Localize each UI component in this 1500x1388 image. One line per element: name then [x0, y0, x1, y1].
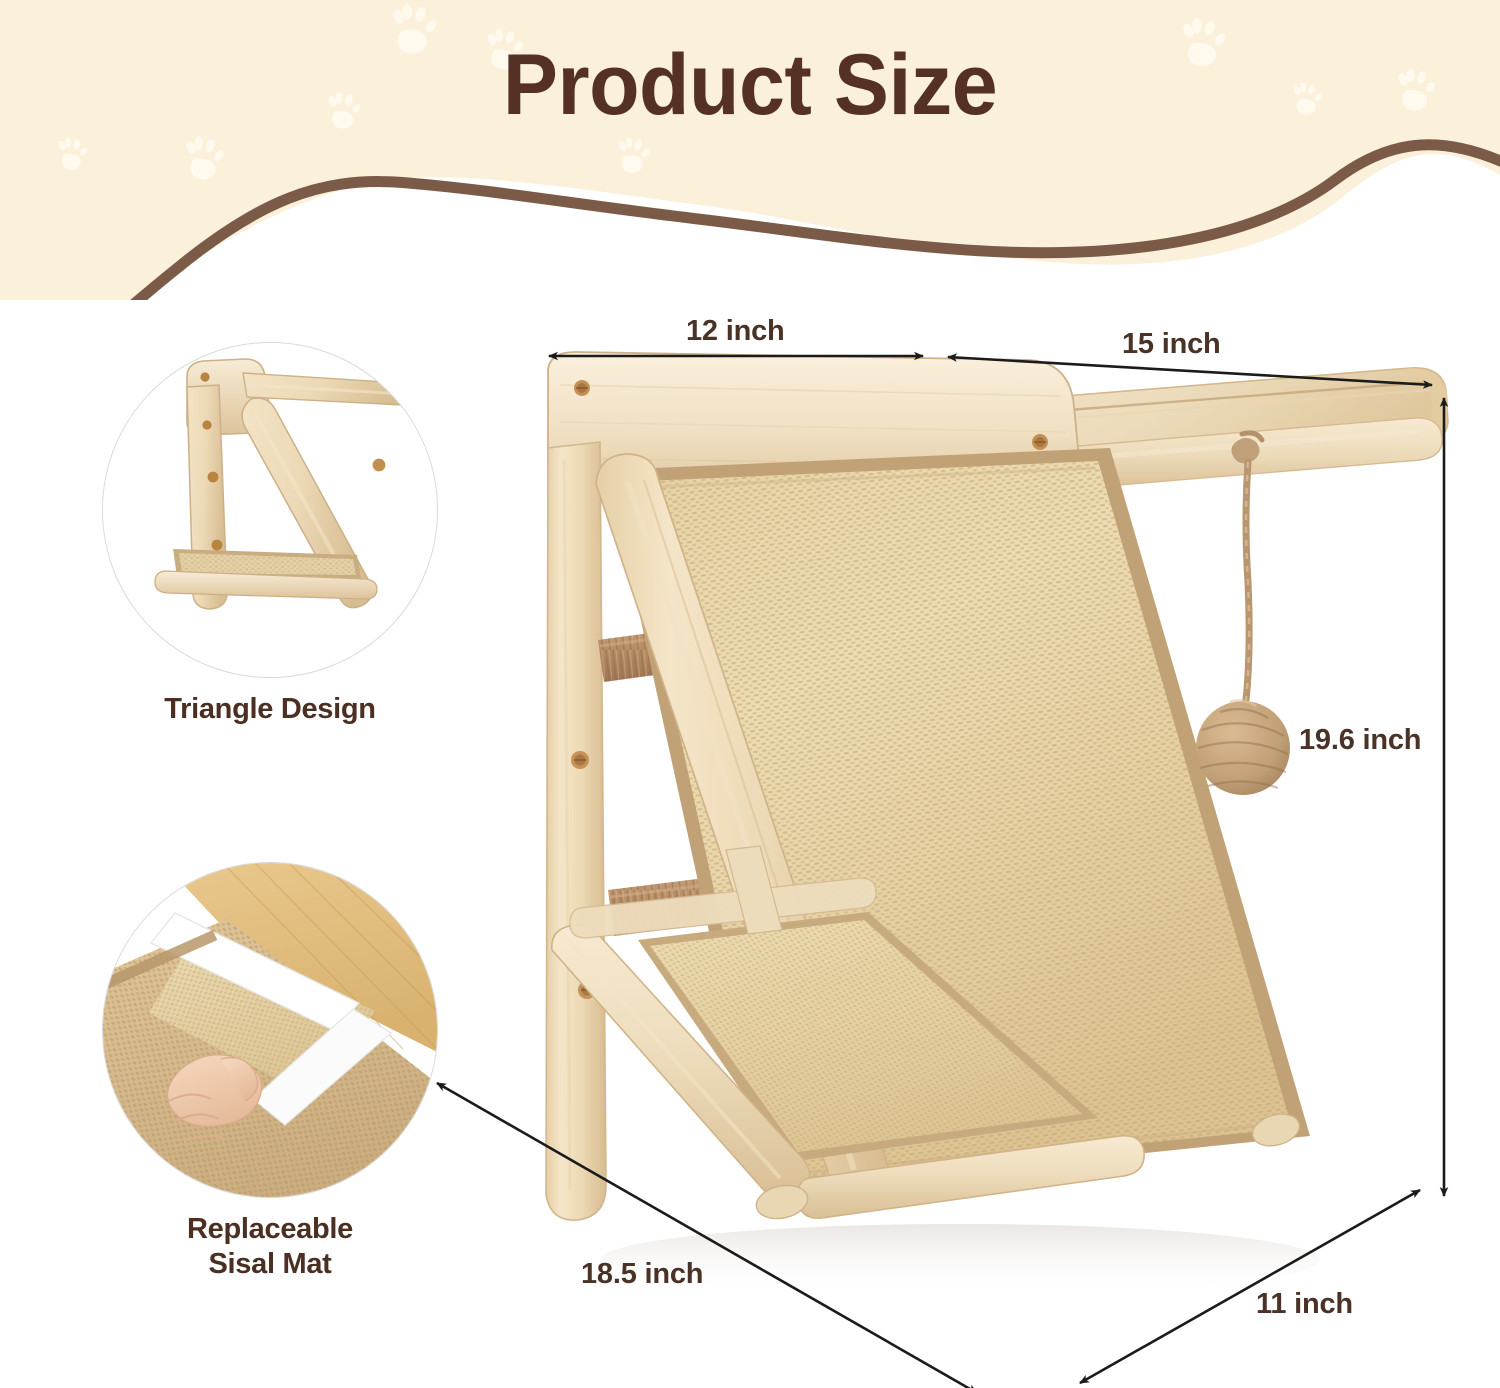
inset-triangle-design-caption: Triangle Design: [82, 692, 458, 727]
inset-caption-line1: Triangle Design: [164, 693, 375, 725]
triangle-design-illustration: [103, 343, 438, 678]
dimension-label-perch-length: 15 inch: [1122, 328, 1221, 361]
inset-triangle-design: Triangle Design: [82, 342, 458, 727]
sisal-mat-illustration: [103, 863, 438, 1198]
screw-icon: [574, 380, 590, 396]
inset-caption-line1: Replaceable: [82, 1212, 458, 1247]
screw-icon: [571, 751, 589, 769]
header-banner: Product Size: [0, 0, 1500, 300]
hanging-ball-toy: [1196, 433, 1290, 795]
inset-caption-line2: Sisal Mat: [82, 1247, 458, 1282]
dimension-label-depth: 11 inch: [1256, 1288, 1353, 1321]
rear-leg: [546, 442, 606, 1220]
dimension-label-height: 19.6 inch: [1299, 724, 1421, 757]
dimension-label-ramp-length: 18.5 inch: [581, 1258, 703, 1291]
floor-shadow: [600, 1224, 1320, 1296]
product-photo: [430, 330, 1460, 1330]
dimension-label-top-width: 12 inch: [686, 315, 785, 348]
screw-icon: [1032, 434, 1048, 450]
inset-sisal-mat-caption: Replaceable Sisal Mat: [82, 1212, 458, 1283]
page-title: Product Size: [30, 36, 1470, 135]
inset-triangle-design-image: [102, 342, 438, 678]
inset-replaceable-sisal-mat: Replaceable Sisal Mat: [82, 862, 458, 1283]
product-size-infographic: Product Size: [0, 0, 1500, 1388]
inset-sisal-mat-image: [102, 862, 438, 1198]
